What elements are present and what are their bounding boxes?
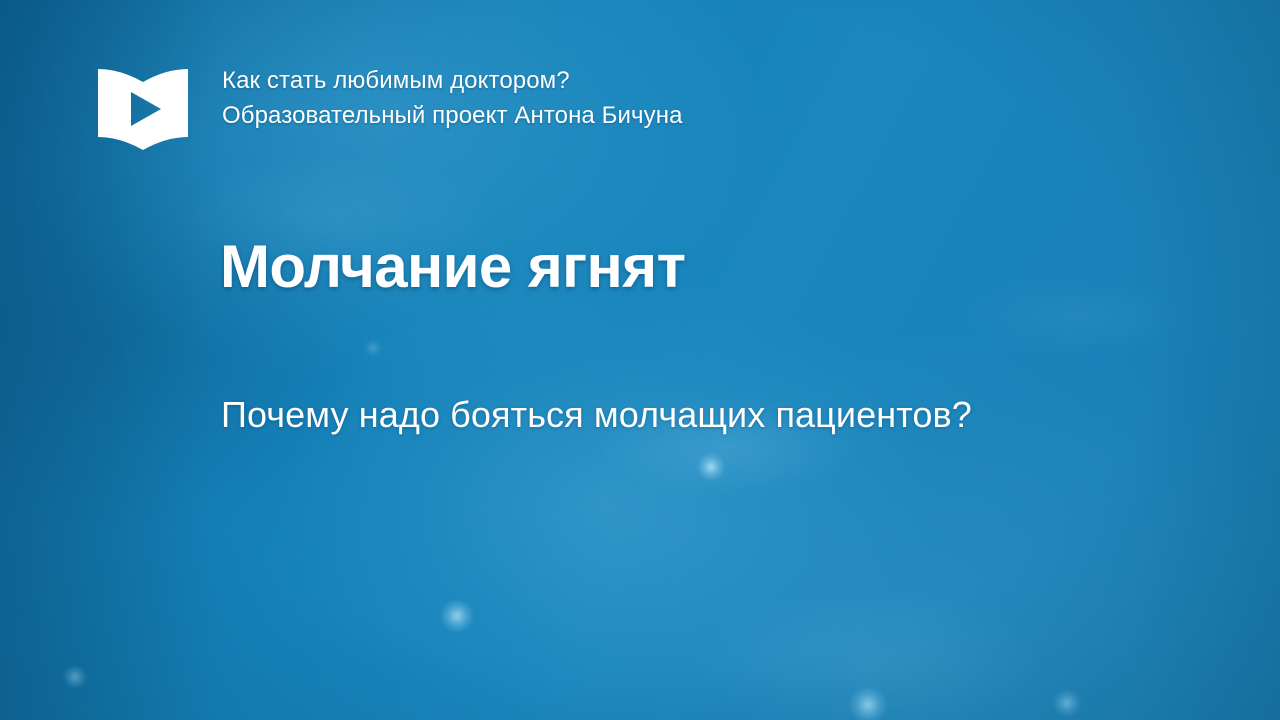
header-line-1: Как стать любимым доктором? — [222, 63, 683, 98]
header-text-block: Как стать любимым доктором? Образователь… — [222, 62, 683, 133]
title-slide: Как стать любимым доктором? Образователь… — [0, 0, 1280, 720]
slide-subtitle: Почему надо бояться молчащих пациентов? — [221, 384, 981, 446]
water-speck — [364, 340, 382, 356]
header-line-2: Образовательный проект Антона Бичуна — [222, 98, 683, 133]
slide-title: Молчание ягнят — [220, 232, 685, 302]
water-speck — [440, 600, 474, 632]
open-book-play-logo-icon — [98, 66, 188, 150]
water-speck — [698, 452, 724, 482]
water-speck — [62, 666, 88, 688]
water-speck — [848, 688, 888, 720]
water-speck — [1052, 690, 1082, 716]
slide-header: Как стать любимым доктором? Образователь… — [98, 62, 683, 150]
